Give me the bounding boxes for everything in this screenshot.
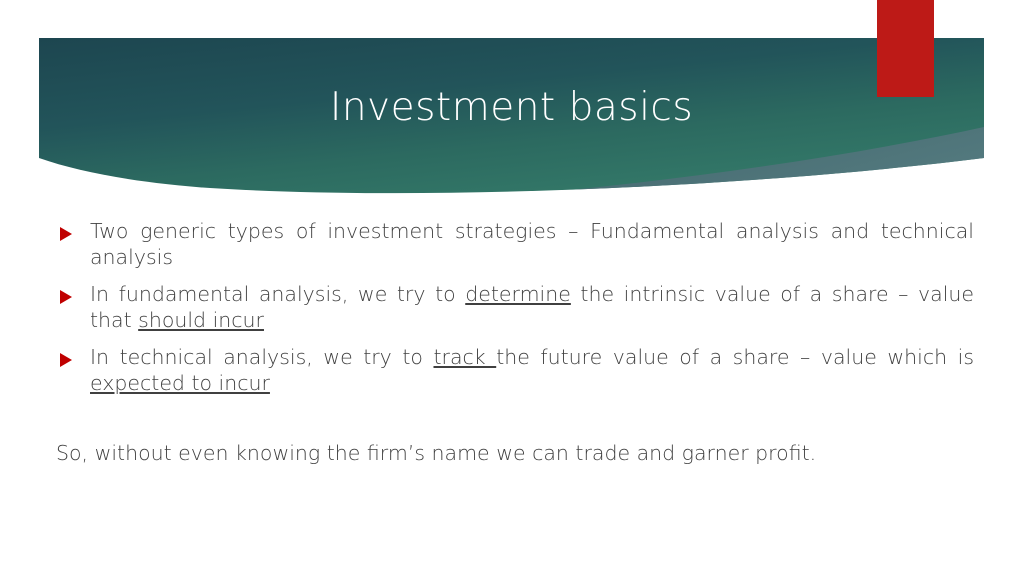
bullet-text-2: In fundamental analysis, we try to deter… <box>90 281 974 333</box>
bullet-text-3: In technical analysis, we try to track t… <box>90 344 974 396</box>
slide-body: Two generic types of investment strategi… <box>0 205 1024 576</box>
triangle-bullet-icon <box>60 290 72 304</box>
bullet-segment: In fundamental analysis, we try to <box>90 282 465 306</box>
list-item: Two generic types of investment strategi… <box>56 218 974 270</box>
bullet-segment: the future value of a share – value whic… <box>496 345 974 369</box>
bullet-list: Two generic types of investment strategi… <box>56 218 974 407</box>
triangle-bullet-icon <box>60 353 72 367</box>
bullet-text-1: Two generic types of investment strategi… <box>90 218 974 270</box>
bullet-segment: In technical analysis, we try to <box>90 345 433 369</box>
bullet-segment-underlined: track <box>433 345 496 369</box>
list-item: In fundamental analysis, we try to deter… <box>56 281 974 333</box>
presentation-slide: Investment basics Two generic types of i… <box>0 0 1024 576</box>
bullet-segment-underlined: expected to incur <box>90 371 270 395</box>
list-item: In technical analysis, we try to track t… <box>56 344 974 396</box>
bullet-segment-underlined: determine <box>465 282 571 306</box>
bullet-segment-underlined: should incur <box>138 308 264 332</box>
page-title: Investment basics <box>39 82 984 134</box>
triangle-bullet-icon <box>60 227 72 241</box>
closing-paragraph: So, without even knowing the firm’s name… <box>56 440 974 466</box>
bullet-segment: Two generic types of investment strategi… <box>90 219 974 269</box>
